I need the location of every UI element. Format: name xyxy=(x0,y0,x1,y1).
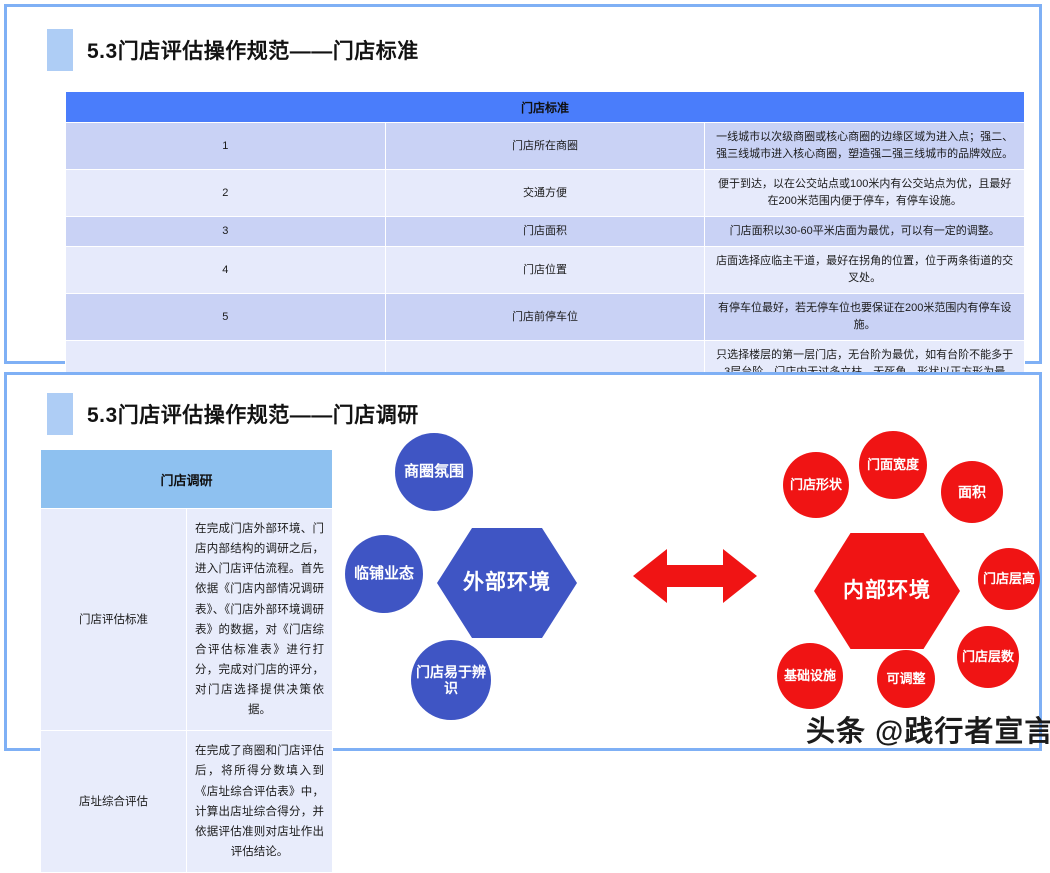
node-label: 基础设施 xyxy=(784,669,836,684)
title-accent-chip xyxy=(47,29,73,71)
row-body: 在完成了商圈和门店评估后，将所得分数填入到《店址综合评估表》中，计算出店址综合得… xyxy=(187,731,333,873)
table-row: 店址综合评估 在完成了商圈和门店评估后，将所得分数填入到《店址综合评估表》中，计… xyxy=(41,731,333,873)
hub-external-environment[interactable]: 外部环境 xyxy=(437,528,577,638)
node-label: 面积 xyxy=(958,484,986,500)
slide-title-top: 5.3门店评估操作规范——门店标准 xyxy=(47,29,419,71)
row-item: 交通方便 xyxy=(385,170,705,217)
page-title: 5.3门店评估操作规范——门店标准 xyxy=(87,35,419,65)
node-store-floor-height[interactable]: 门店层高 xyxy=(978,548,1040,610)
slide-deck: 5.3门店评估操作规范——门店标准 门店标准 1 门店所在商圈 一线城市以次级商… xyxy=(0,0,1050,755)
row-desc: 便于到达，以在公交站点或100米内有公交站点为优，且最好在200米范围内便于停车… xyxy=(705,170,1025,217)
slide-store-standard: 5.3门店评估操作规范——门店标准 门店标准 1 门店所在商圈 一线城市以次级商… xyxy=(4,4,1042,364)
row-desc: 店面选择应临主干道，最好在拐角的位置，位于两条街道的交叉处。 xyxy=(705,247,1025,294)
title-accent-chip xyxy=(47,393,73,435)
double-arrow-icon xyxy=(633,547,757,605)
row-item: 门店前停车位 xyxy=(385,294,705,341)
node-label: 可调整 xyxy=(886,672,925,687)
page-title: 5.3门店评估操作规范——门店调研 xyxy=(87,399,419,429)
row-number: 3 xyxy=(66,217,386,247)
row-desc: 有停车位最好，若无停车位也要保证在200米范围内有停车设施。 xyxy=(705,294,1025,341)
node-label: 门店层高 xyxy=(983,572,1035,587)
node-label: 门店层数 xyxy=(962,650,1014,665)
table-header-cell: 门店调研 xyxy=(41,450,333,509)
node-label: 商圈氛围 xyxy=(404,463,464,480)
row-label: 店址综合评估 xyxy=(41,731,187,873)
node-frontage-width[interactable]: 门面宽度 xyxy=(859,431,927,499)
table-row: 3 门店面积 门店面积以30-60平米店面为最优，可以有一定的调整。 xyxy=(66,217,1025,247)
node-label: 门店形状 xyxy=(790,478,842,493)
node-store-floor-count[interactable]: 门店层数 xyxy=(957,626,1019,688)
table-row: 2 交通方便 便于到达，以在公交站点或100米内有公交站点为优，且最好在200米… xyxy=(66,170,1025,217)
node-store-recognizability[interactable]: 门店易于辨识 xyxy=(411,640,491,720)
row-number: 1 xyxy=(66,123,386,170)
row-number: 4 xyxy=(66,247,386,294)
hub-label: 外部环境 xyxy=(463,571,551,595)
environment-diagram: 外部环境 商圈氛围 临铺业态 门店易于辨识 内部环境 xyxy=(337,435,1037,750)
row-item: 门店位置 xyxy=(385,247,705,294)
row-desc: 一线城市以次级商圈或核心商圈的边缘区域为进入点；强二、强三线城市进入核心商圈，塑… xyxy=(705,123,1025,170)
node-store-shape[interactable]: 门店形状 xyxy=(783,452,849,518)
row-body: 在完成门店外部环境、门店内部结构的调研之后，进入门店评估流程。首先依据《门店内部… xyxy=(187,509,333,731)
hub-label: 内部环境 xyxy=(843,579,931,603)
slide-title-bottom: 5.3门店评估操作规范——门店调研 xyxy=(47,393,419,435)
table-row: 5 门店前停车位 有停车位最好，若无停车位也要保证在200米范围内有停车设施。 xyxy=(66,294,1025,341)
slide-store-research: 5.3门店评估操作规范——门店调研 门店调研 门店评估标准 在完成门店外部环境、… xyxy=(4,372,1042,751)
row-desc: 门店面积以30-60平米店面为最优，可以有一定的调整。 xyxy=(705,217,1025,247)
node-area[interactable]: 面积 xyxy=(941,461,1003,523)
node-adjacent-format[interactable]: 临铺业态 xyxy=(345,535,423,613)
table-row: 4 门店位置 店面选择应临主干道，最好在拐角的位置，位于两条街道的交叉处。 xyxy=(66,247,1025,294)
row-item: 门店面积 xyxy=(385,217,705,247)
hub-internal-environment[interactable]: 内部环境 xyxy=(814,533,960,649)
node-adjustable[interactable]: 可调整 xyxy=(877,650,935,708)
table-row: 门店评估标准 在完成门店外部环境、门店内部结构的调研之后，进入门店评估流程。首先… xyxy=(41,509,333,731)
node-label: 临铺业态 xyxy=(354,565,414,582)
table-row: 1 门店所在商圈 一线城市以次级商圈或核心商圈的边缘区域为进入点；强二、强三线城… xyxy=(66,123,1025,170)
watermark: 头条 @践行者宣言 xyxy=(806,708,1050,750)
node-label: 门店易于辨识 xyxy=(411,664,491,696)
row-number: 2 xyxy=(66,170,386,217)
store-research-table: 门店调研 门店评估标准 在完成门店外部环境、门店内部结构的调研之后，进入门店评估… xyxy=(40,449,333,873)
node-infrastructure[interactable]: 基础设施 xyxy=(777,643,843,709)
row-number: 5 xyxy=(66,294,386,341)
node-business-atmosphere[interactable]: 商圈氛围 xyxy=(395,433,473,511)
row-item: 门店所在商圈 xyxy=(385,123,705,170)
row-label: 门店评估标准 xyxy=(41,509,187,731)
node-label: 门面宽度 xyxy=(867,458,919,473)
table-header-cell: 门店标准 xyxy=(66,92,1025,123)
